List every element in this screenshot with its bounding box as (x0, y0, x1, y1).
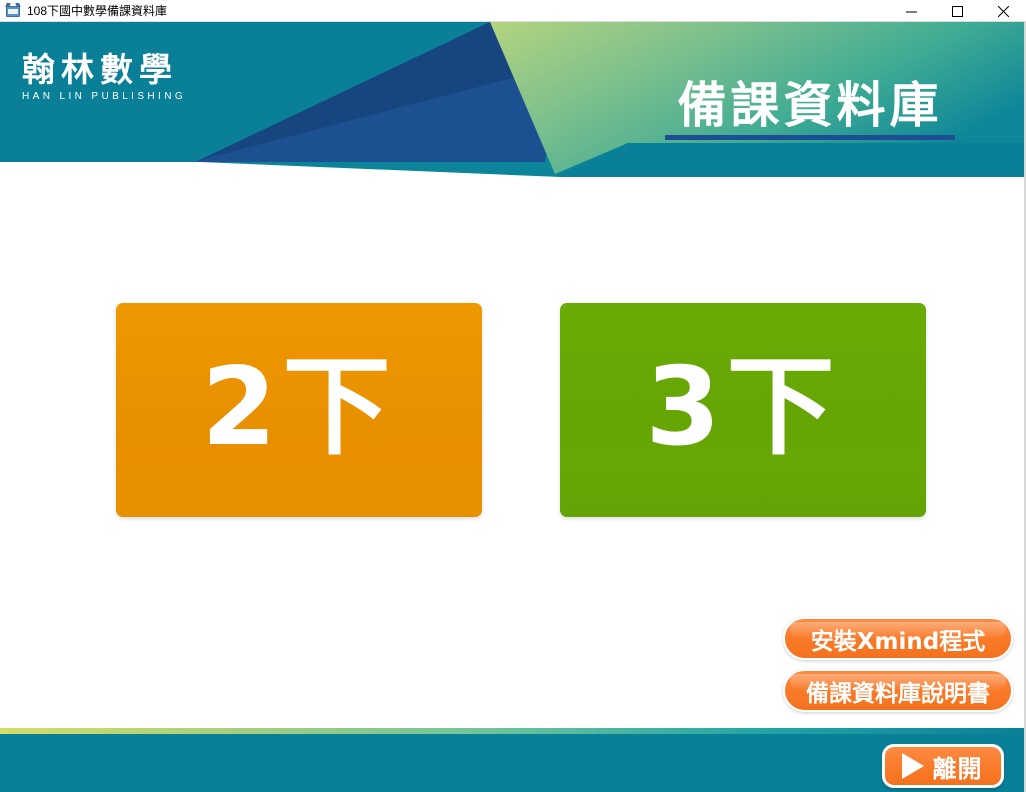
main-content: 2下 3下 安裝Xmind程式 備課資料庫說明書 (0, 177, 1026, 728)
install-xmind-button[interactable]: 安裝Xmind程式 (783, 617, 1013, 660)
grade-card-2[interactable]: 2下 (116, 303, 482, 517)
page-title: 備課資料庫 (665, 80, 955, 140)
footer-background (0, 734, 1026, 792)
maximize-icon (952, 6, 963, 17)
application-window: 108下國中數學備課資料庫 (0, 0, 1026, 792)
exit-button-label: 離開 (933, 749, 983, 784)
header-banner: 翰林數學 HAN LIN PUBLISHING 備課資料庫 (0, 22, 1026, 177)
maximize-button[interactable] (934, 0, 980, 22)
grade-card-2-label: 2下 (201, 354, 396, 462)
close-icon (998, 6, 1009, 17)
logo-english-text: HAN LIN PUBLISHING (22, 91, 186, 102)
title-bar: 108下國中數學備課資料庫 (0, 0, 1026, 22)
secondary-actions: 安裝Xmind程式 備課資料庫說明書 (783, 617, 1013, 721)
window-controls (888, 0, 1026, 22)
grade-card-3[interactable]: 3下 (560, 303, 926, 517)
exit-button[interactable]: 離開 (882, 744, 1004, 788)
brand-logo: 翰林數學 HAN LIN PUBLISHING (22, 52, 186, 102)
logo-chinese-text: 翰林數學 (22, 52, 186, 88)
grade-card-3-label: 3下 (645, 354, 840, 462)
manual-button[interactable]: 備課資料庫說明書 (783, 669, 1013, 712)
page-title-text: 備課資料庫 (665, 80, 955, 131)
install-xmind-label: 安裝Xmind程式 (811, 622, 985, 656)
window-title: 108下國中數學備課資料庫 (27, 2, 167, 19)
minimize-button[interactable] (888, 0, 934, 22)
page-title-underline (665, 135, 955, 140)
minimize-icon (906, 6, 917, 17)
app-icon (5, 3, 21, 19)
footer-bar: 離開 (0, 728, 1026, 792)
close-button[interactable] (980, 0, 1026, 22)
manual-label: 備課資料庫說明書 (806, 674, 990, 708)
play-triangle-icon (902, 753, 924, 779)
